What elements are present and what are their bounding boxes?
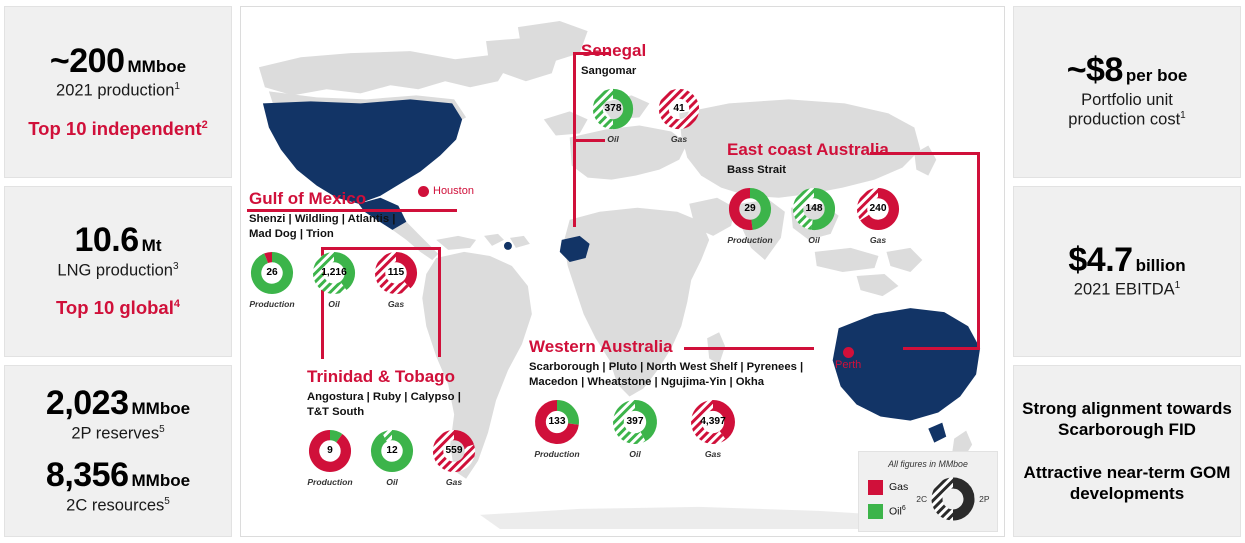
donut-chart: 559 xyxy=(431,428,477,474)
region-trinidad-donuts: 9 Production 12 Oil 559 Gas xyxy=(307,428,477,487)
stat-2c-subtitle: 2C resources5 xyxy=(66,496,170,516)
donut-tt-oil: 12 Oil xyxy=(369,428,415,487)
region-senegal-assets: Sangomar xyxy=(581,64,701,79)
legend-2p-label: 2P xyxy=(979,494,989,504)
region-waus-donuts: 133 Production 397 Oil 4,397 Gas xyxy=(533,398,803,459)
donut-wa-gas: 4,397 Gas xyxy=(689,398,737,459)
donut-wa-production-label: Production xyxy=(534,449,579,459)
stat-lng-number: 10.6 xyxy=(74,221,138,259)
region-trinidad-title: Trinidad & Tobago xyxy=(307,367,477,387)
stat-ebitda-footnote: 1 xyxy=(1175,280,1181,291)
perth-label: Perth xyxy=(835,359,861,371)
legend-2c-label: 2C xyxy=(916,494,927,504)
map-highlight-trinidad xyxy=(504,242,512,250)
region-trinidad-and-tobago: Trinidad & Tobago Angostura | Ruby | Cal… xyxy=(307,367,477,487)
stat-card-ebitda: $4.7billion 2021 EBITDA1 xyxy=(1013,186,1241,358)
stat-2p-value: 2,023MMboe xyxy=(46,386,190,422)
donut-chart: 240 xyxy=(855,186,901,232)
stat-lng-unit: Mt xyxy=(142,236,162,255)
donut-wa-oil: 397 Oil xyxy=(611,398,659,459)
donut-tt-production-label: Production xyxy=(307,477,352,487)
stat-2p-number: 2,023 xyxy=(46,384,129,422)
stat-card-lng: 10.6Mt LNG production3 Top 10 global4 xyxy=(4,186,232,358)
legend-key-oil: Oil6 xyxy=(868,504,908,519)
stat-unitcost-subtitle: Portfolio unit production cost1 xyxy=(1068,91,1185,131)
right-stats-column: ~$8per boe Portfolio unit production cos… xyxy=(1013,6,1241,537)
legend-oil-text: Oil xyxy=(889,505,902,517)
stat-card-unit-cost: ~$8per boe Portfolio unit production cos… xyxy=(1013,6,1241,178)
donut-eca-gas: 240 Gas xyxy=(855,186,901,245)
stat-production-footnote: 1 xyxy=(174,81,180,92)
legend-key-gas-label: Gas xyxy=(889,481,908,493)
stat-unitcost-number: ~$8 xyxy=(1067,51,1123,89)
donut-chart: 1,216 xyxy=(311,250,357,296)
left-stats-column: ~200MMboe 2021 production1 Top 10 indepe… xyxy=(4,6,232,537)
stat-ebitda-value: $4.7billion xyxy=(1068,243,1185,279)
donut-chart: 41 xyxy=(657,87,701,131)
donut-wa-gas-label: Gas xyxy=(705,449,721,459)
region-gulf-of-mexico-assets: Shenzi | Wildling | Atlantis | Mad Dog |… xyxy=(249,212,419,242)
region-gulf-of-mexico: Gulf of Mexico Shenzi | Wildling | Atlan… xyxy=(249,189,419,309)
stat-unitcost-subtitle-line1: Portfolio unit xyxy=(1081,91,1173,109)
stat-unitcost-footnote: 1 xyxy=(1180,110,1186,121)
donut-gom-production-label: Production xyxy=(249,299,294,309)
donut-chart: 9 xyxy=(307,428,353,474)
stat-production-value: ~200MMboe xyxy=(50,44,186,80)
donut-eca-oil-label: Oil xyxy=(808,235,819,245)
region-east-coast-australia: East coast Australia Bass Strait 29 Prod… xyxy=(727,140,901,245)
stat-2p-footnote: 5 xyxy=(159,424,165,435)
stat-unitcost-unit: per boe xyxy=(1126,66,1187,85)
infographic-page: ~200MMboe 2021 production1 Top 10 indepe… xyxy=(0,0,1245,543)
donut-wa-production: 133 Production xyxy=(533,398,581,459)
legend-key-oil-label: Oil6 xyxy=(889,505,906,518)
stat-unitcost-subtitle-line2: production cost xyxy=(1068,111,1180,129)
donut-chart: 29 xyxy=(727,186,773,232)
donut-eca-oil: 148 Oil xyxy=(791,186,837,245)
stat-production-unit: MMboe xyxy=(128,57,187,76)
donut-senegal-gas-label: Gas xyxy=(671,134,687,144)
outlook-note-gom: Attractive near-term GOM developments xyxy=(1022,462,1232,505)
stat-2c-footnote: 5 xyxy=(164,496,170,507)
stat-production-highlight-footnote: 2 xyxy=(202,119,208,131)
perth-dot-icon xyxy=(843,347,854,358)
houston-dot-icon xyxy=(418,186,429,197)
world-map-panel: Houston Perth Gulf of Mexico Shenzi | Wi… xyxy=(240,6,1005,537)
stat-production-subtitle: 2021 production1 xyxy=(56,81,180,101)
legend-body: Gas Oil6 2C 2P xyxy=(868,476,988,522)
donut-chart: 148 xyxy=(791,186,837,232)
donut-chart: 378 xyxy=(591,87,635,131)
donut-tt-gas: 559 Gas xyxy=(431,428,477,487)
donut-tt-gas-label: Gas xyxy=(446,477,462,487)
stat-lng-footnote: 3 xyxy=(173,261,179,272)
donut-tt-production: 9 Production xyxy=(307,428,353,487)
stat-card-production: ~200MMboe 2021 production1 Top 10 indepe… xyxy=(4,6,232,178)
donut-senegal-oil-label: Oil xyxy=(607,134,618,144)
legend-title: All figures in MMboe xyxy=(868,459,988,469)
donut-gom-gas-label: Gas xyxy=(388,299,404,309)
donut-gom-production: 26 Production xyxy=(249,250,295,309)
donut-chart: 26 xyxy=(249,250,295,296)
connector-ecaus-bottom xyxy=(903,347,980,350)
stat-lng-value: 10.6Mt xyxy=(74,223,161,259)
region-gulf-of-mexico-donuts: 26 Production 1,216 Oil 115 Gas xyxy=(249,250,419,309)
oil-swatch-icon xyxy=(868,504,883,519)
legend-keys: Gas Oil6 xyxy=(868,480,908,519)
donut-senegal-gas: 41 Gas xyxy=(657,87,701,144)
stat-unitcost-value: ~$8per boe xyxy=(1067,53,1188,89)
houston-label: Houston xyxy=(433,185,474,197)
region-senegal-title: Senegal xyxy=(581,41,701,61)
stat-production-highlight: Top 10 independent2 xyxy=(28,118,207,140)
stat-ebitda-subtitle: 2021 EBITDA1 xyxy=(1074,280,1180,300)
outlook-note-scarborough: Strong alignment towards Scarborough FID xyxy=(1022,398,1232,441)
donut-eca-gas-label: Gas xyxy=(870,235,886,245)
stat-lng-subtitle: LNG production3 xyxy=(57,261,178,281)
donut-chart: 115 xyxy=(373,250,419,296)
donut-chart: 12 xyxy=(369,428,415,474)
stat-production-subtitle-text: 2021 production xyxy=(56,82,174,100)
donut-eca-production-label: Production xyxy=(727,235,772,245)
donut-senegal-oil: 378 Oil xyxy=(591,87,635,144)
stat-lng-subtitle-text: LNG production xyxy=(57,262,173,280)
city-marker-perth: Perth xyxy=(835,347,861,371)
gas-swatch-icon xyxy=(868,480,883,495)
map-legend: All figures in MMboe Gas Oil6 2C xyxy=(858,451,998,532)
region-trinidad-assets: Angostura | Ruby | Calypso | T&T South xyxy=(307,390,477,420)
region-senegal-donuts: 378 Oil 41 Gas xyxy=(591,87,701,144)
region-ecaus-assets: Bass Strait xyxy=(727,163,901,178)
stat-lng-highlight-text: Top 10 global xyxy=(56,297,174,318)
stat-2p-unit: MMboe xyxy=(132,399,191,418)
stat-production-number: ~200 xyxy=(50,42,125,80)
stat-lng-highlight: Top 10 global4 xyxy=(56,297,180,319)
donut-chart: 133 xyxy=(533,398,581,446)
stat-2c-number: 8,356 xyxy=(46,456,129,494)
region-waus-title: Western Australia xyxy=(529,337,803,357)
stat-production-highlight-text: Top 10 independent xyxy=(28,118,201,139)
stat-ebitda-subtitle-text: 2021 EBITDA xyxy=(1074,281,1175,299)
stat-2c-value: 8,356MMboe xyxy=(46,458,190,494)
legend-key-gas: Gas xyxy=(868,480,908,495)
stat-2c-subtitle-text: 2C resources xyxy=(66,496,164,514)
donut-gom-gas: 115 Gas xyxy=(373,250,419,309)
connector-trinidad-vertical xyxy=(438,247,441,357)
donut-tt-oil-label: Oil xyxy=(386,477,397,487)
stat-ebitda-number: $4.7 xyxy=(1068,241,1132,279)
region-waus-assets: Scarborough | Pluto | North West Shelf |… xyxy=(529,360,803,390)
donut-eca-production: 29 Production xyxy=(727,186,773,245)
legend-donut-icon xyxy=(930,476,976,522)
legend-oil-footnote: 6 xyxy=(902,505,906,512)
city-marker-houston: Houston xyxy=(418,185,474,197)
donut-gom-oil: 1,216 Oil xyxy=(311,250,357,309)
connector-ecaus-vertical xyxy=(977,152,980,350)
region-senegal: Senegal Sangomar 378 Oil 41 Gas xyxy=(581,41,701,144)
donut-chart: 4,397 xyxy=(689,398,737,446)
region-gulf-of-mexico-title: Gulf of Mexico xyxy=(249,189,419,209)
stat-ebitda-unit: billion xyxy=(1136,256,1186,275)
stat-2p-subtitle-text: 2P reserves xyxy=(71,424,159,442)
stat-2p-subtitle: 2P reserves5 xyxy=(71,424,164,444)
region-ecaus-donuts: 29 Production 148 Oil 240 Gas xyxy=(727,186,901,245)
stat-card-reserves: 2,023MMboe 2P reserves5 8,356MMboe 2C re… xyxy=(4,365,232,537)
legend-gas-text: Gas xyxy=(889,481,908,493)
region-ecaus-title: East coast Australia xyxy=(727,140,901,160)
region-western-australia: Western Australia Scarborough | Pluto | … xyxy=(529,337,803,459)
donut-wa-oil-label: Oil xyxy=(629,449,640,459)
donut-chart: 397 xyxy=(611,398,659,446)
stat-lng-highlight-footnote: 4 xyxy=(174,298,180,310)
stat-2c-unit: MMboe xyxy=(132,471,191,490)
donut-gom-oil-label: Oil xyxy=(328,299,339,309)
stat-card-outlook: Strong alignment towards Scarborough FID… xyxy=(1013,365,1241,537)
legend-ring-group: 2C 2P xyxy=(916,476,989,522)
